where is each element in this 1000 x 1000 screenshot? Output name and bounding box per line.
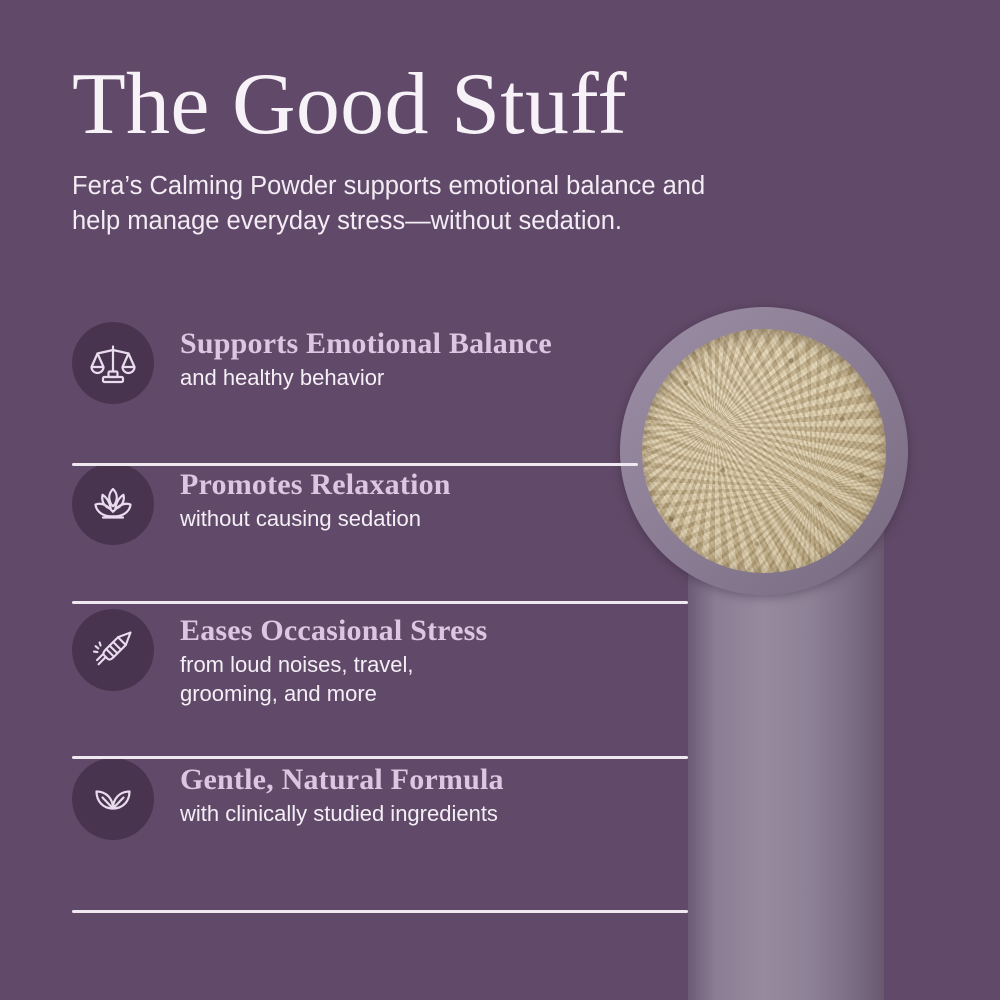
feature-item-occasional-stress: Eases Occasional Stress from loud noises…	[72, 609, 692, 708]
subtitle-line-1: Fera’s Calming Powder supports emotional…	[72, 172, 705, 200]
subtitle-line-2: help manage everyday stress—without seda…	[72, 207, 622, 235]
feature-item-emotional-balance: Supports Emotional Balance and healthy b…	[72, 322, 692, 404]
divider-2	[72, 601, 688, 604]
good-stuff-promo-graphic: The Good Stuff Fera’s Calming Powder sup…	[0, 0, 1000, 1000]
feature-title: Supports Emotional Balance	[180, 326, 552, 361]
feature-subtitle-line-1: and healthy behavior	[180, 365, 384, 390]
feature-item-relaxation: Promotes Relaxation without causing seda…	[72, 463, 692, 545]
balance-scale-icon	[72, 322, 154, 404]
feature-subtitle-line-1: from loud noises, travel,	[180, 652, 414, 677]
firework-rocket-icon	[72, 609, 154, 691]
feature-subtitle-line-2: grooming, and more	[180, 681, 377, 706]
feature-text: Gentle, Natural Formula with clinically …	[154, 758, 504, 829]
page-title: The Good Stuff	[72, 58, 892, 151]
header: The Good Stuff Fera’s Calming Powder sup…	[72, 58, 892, 240]
feature-title: Gentle, Natural Formula	[180, 762, 504, 797]
feature-text: Eases Occasional Stress from loud noises…	[154, 609, 487, 708]
divider-1	[72, 463, 638, 466]
divider-3	[72, 756, 688, 759]
feature-subtitle-line-1: without causing sedation	[180, 506, 421, 531]
feature-subtitle: with clinically studied ingredients	[180, 800, 504, 828]
feature-subtitle: without causing sedation	[180, 505, 451, 533]
feature-item-natural-formula: Gentle, Natural Formula with clinically …	[72, 758, 692, 840]
feature-subtitle-line-1: with clinically studied ingredients	[180, 801, 498, 826]
two-leaves-icon	[72, 758, 154, 840]
divider-4	[72, 910, 688, 913]
feature-subtitle: from loud noises, travel, grooming, and …	[180, 651, 487, 707]
feature-subtitle: and healthy behavior	[180, 364, 552, 392]
feature-list: Supports Emotional Balance and healthy b…	[72, 322, 692, 840]
scoop-handle	[688, 470, 884, 1000]
lotus-flower-icon	[72, 463, 154, 545]
page-subtitle: Fera’s Calming Powder supports emotional…	[72, 169, 882, 239]
feature-text: Supports Emotional Balance and healthy b…	[154, 322, 552, 393]
feature-text: Promotes Relaxation without causing seda…	[154, 463, 451, 534]
feature-title: Promotes Relaxation	[180, 467, 451, 502]
feature-title: Eases Occasional Stress	[180, 613, 487, 648]
